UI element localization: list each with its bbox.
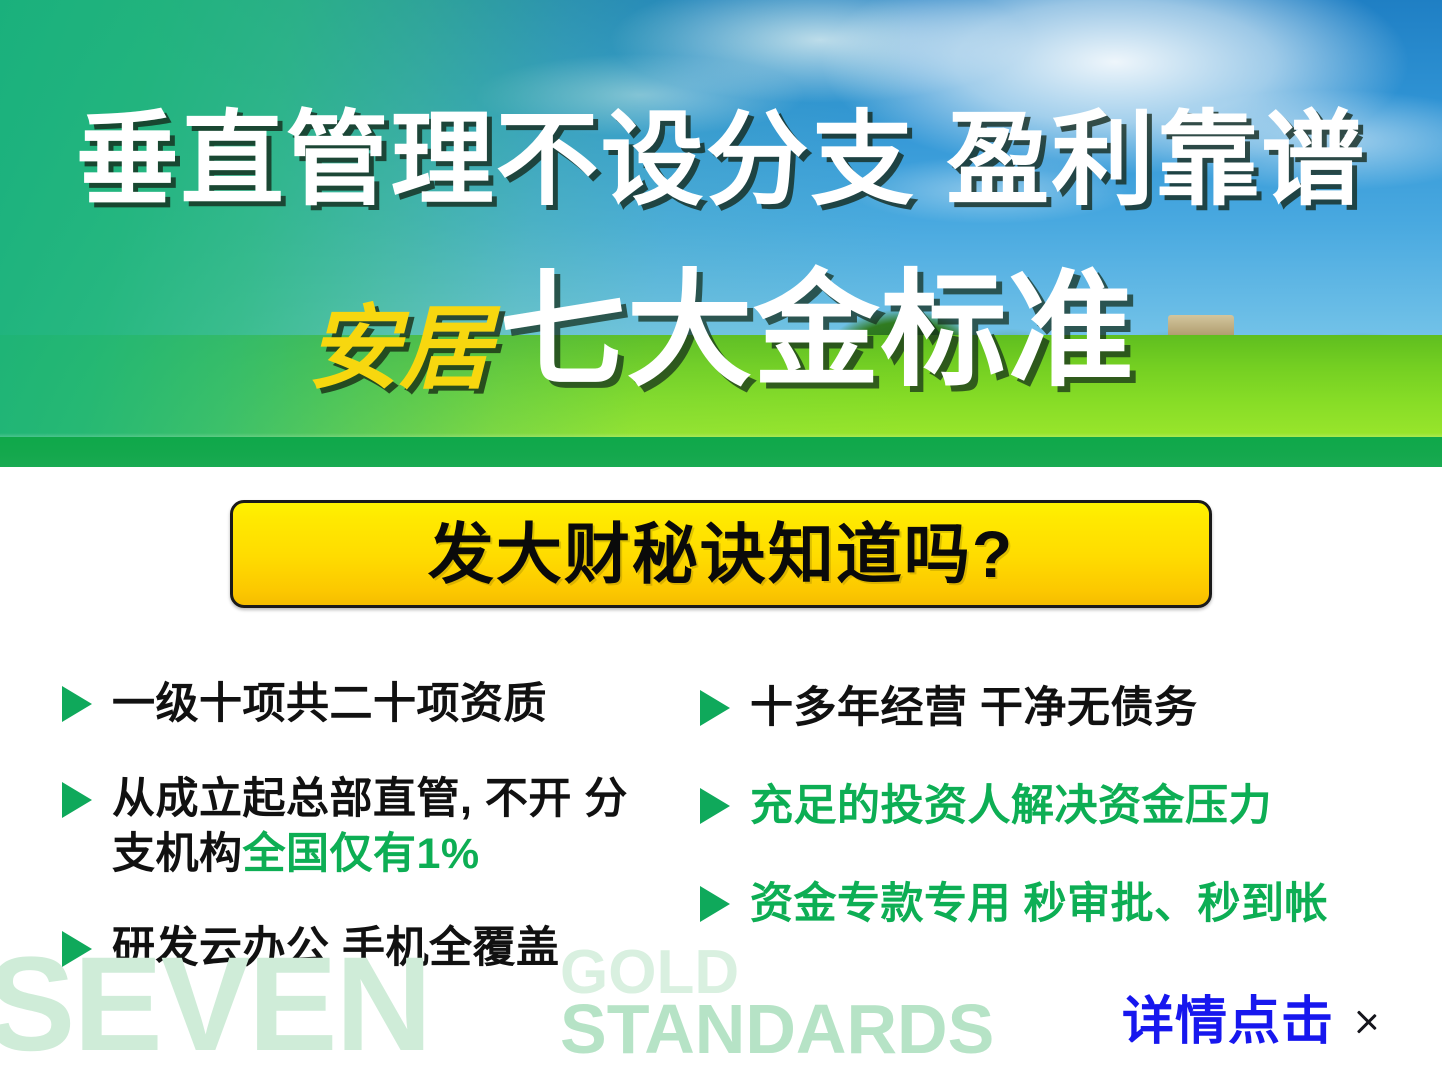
chevron-right-icon — [1356, 999, 1382, 1045]
watermark-standards: STANDARDS — [560, 994, 994, 1064]
hero-subheadline-row: 安居七大金标准 — [0, 268, 1442, 394]
feature-item-left-3: 研发云办公 手机全覆盖 — [62, 922, 559, 974]
highlight-banner[interactable]: 发大财秘诀知道吗? — [230, 500, 1212, 608]
hero-section: 垂直管理不设分支 盈利靠谱 安居七大金标准 — [0, 0, 1442, 467]
hero-bottom-green-bar — [0, 437, 1442, 467]
triangle-bullet-icon — [62, 686, 92, 722]
hero-subheadline: 七大金标准 — [500, 268, 1135, 394]
hero-headline: 垂直管理不设分支 盈利靠谱 — [0, 108, 1442, 211]
feature-label: 十多年经营 干净无债务 — [750, 682, 1197, 734]
feature-item-left-1: 一级十项共二十项资质 — [62, 678, 547, 730]
feature-label: 充足的投资人解决资金压力 — [750, 780, 1272, 832]
feature-item-right-3: 资金专款专用 秒审批、秒到帐 — [700, 878, 1328, 930]
feature-label: 一级十项共二十项资质 — [112, 678, 547, 730]
feature-item-right-1: 十多年经营 干净无债务 — [700, 682, 1197, 734]
promo-banner-page: 垂直管理不设分支 盈利靠谱 安居七大金标准 发大财秘诀知道吗? 一级十项共二十项… — [0, 0, 1442, 1066]
triangle-bullet-icon — [62, 931, 92, 967]
feature-label: 资金专款专用 秒审批、秒到帐 — [750, 878, 1328, 930]
triangle-bullet-icon — [62, 782, 92, 818]
details-cta-label: 详情点击 — [1122, 996, 1334, 1048]
feature-item-left-2: 从成立起总部直管, 不开 分支机构全国仅有1% — [62, 772, 632, 882]
feature-label-highlight: 全国仅有1% — [243, 830, 480, 878]
feature-label: 研发云办公 手机全覆盖 — [112, 922, 559, 974]
feature-label-wrapper: 从成立起总部直管, 不开 分支机构全国仅有1% — [112, 772, 632, 882]
features-section: 一级十项共二十项资质 从成立起总部直管, 不开 分支机构全国仅有1% 研发云办公… — [0, 660, 1442, 990]
highlight-banner-text: 发大财秘诀知道吗? — [428, 521, 1014, 587]
feature-item-right-2: 充足的投资人解决资金压力 — [700, 780, 1272, 832]
details-cta-button[interactable]: 详情点击 — [1122, 996, 1382, 1048]
triangle-bullet-icon — [700, 690, 730, 726]
triangle-bullet-icon — [700, 886, 730, 922]
brand-name: 安居 — [307, 302, 491, 394]
triangle-bullet-icon — [700, 788, 730, 824]
